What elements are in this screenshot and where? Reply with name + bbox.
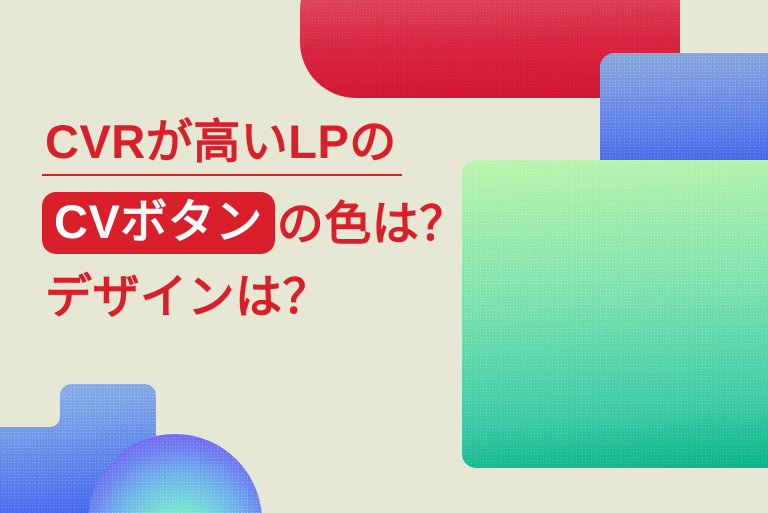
headline-line-3: デザインは？ <box>42 273 602 320</box>
headline-line-2: CVボタンの色は？ <box>42 192 602 254</box>
headline-block: CVRが高いLPの CVボタンの色は？ デザインは？ <box>42 118 602 320</box>
headline-line-1: CVRが高いLPの <box>42 118 402 176</box>
thumbnail-canvas: CVRが高いLPの CVボタンの色は？ デザインは？ <box>0 0 768 513</box>
headline-line-2-rest: の色は？ <box>277 200 467 247</box>
headline-highlight-cv-button: CVボタン <box>42 192 275 254</box>
